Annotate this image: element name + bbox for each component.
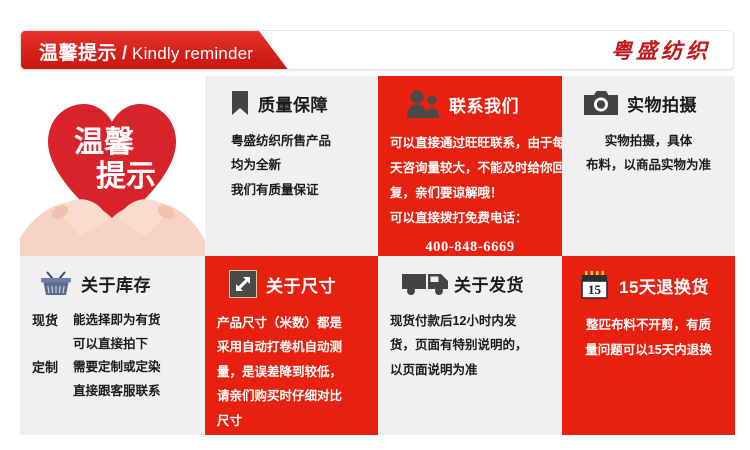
heart-text-line1: 温馨 (74, 126, 135, 159)
stock-key: 现货 (32, 309, 64, 333)
cell-title: 关于尺寸 (266, 272, 336, 297)
cell-header: 15 15天退换货 (574, 270, 723, 300)
cell-title: 联系我们 (449, 92, 519, 117)
stock-key: 定制 (32, 356, 64, 380)
body-line: 量，是误差降到较低， (217, 360, 366, 384)
cell-body: 实物拍摄，具体 布料，以商品实物为准 (574, 129, 723, 178)
calendar-day-number: 15 (588, 282, 602, 297)
cell-title: 质量保障 (258, 91, 328, 116)
body-line: 货，页面有特别说明的， (390, 333, 550, 357)
cell-header: 实物拍摄 (574, 90, 723, 116)
body-line: 天咨询量较大，不能及时给你回 (390, 156, 550, 181)
calendar-icon: 15 (580, 270, 610, 300)
body-line: 产品尺寸（米数）都是 (217, 311, 366, 335)
stock-key (32, 380, 64, 403)
body-line: 现货付款后12小时内发 (390, 309, 550, 333)
people-icon (406, 90, 440, 118)
cell-quality-assurance: 质量保障 粤盛纺织所售产品 均为全新 我们有质量保证 (205, 76, 378, 256)
cell-contact-us: 联系我们 可以直接通过旺旺联系，由于每 天咨询量较大，不能及时给你回 复，亲们要… (378, 76, 562, 256)
cell-body: 现货付款后12小时内发 货，页面有特别说明的， 以页面说明为准 (390, 309, 550, 382)
body-line: 可以直接通过旺旺联系，由于每 (390, 131, 550, 156)
cell-real-photo: 实物拍摄 实物拍摄，具体 布料，以商品实物为准 (562, 76, 735, 256)
resize-arrows-icon (229, 270, 257, 298)
bookmark-icon (231, 90, 249, 116)
truck-icon (402, 270, 450, 296)
stock-key (32, 333, 64, 356)
banner-separator: / (122, 43, 127, 64)
stock-value: 可以直接拍下 (73, 333, 148, 356)
body-line: 尺寸 (217, 409, 366, 433)
stock-row: 可以直接拍下 (32, 333, 193, 356)
heart-icon: 温馨 提示 (20, 76, 205, 256)
cell-body: 现货 能选择即为有货 可以直接拍下 定制 需要定制或定染 直接跟客服联系 (32, 309, 193, 403)
body-line: 实物拍摄，具体 (574, 129, 723, 153)
stock-row: 定制 需要定制或定染 (32, 356, 193, 380)
body-line: 均为全新 (231, 153, 366, 177)
body-line: 整匹布料不开剪，有质 (574, 313, 723, 338)
cell-about-stock: 关于库存 现货 能选择即为有货 可以直接拍下 定制 需要定制或定染 直接跟客服联… (20, 256, 205, 435)
heart-text-line2: 提示 (96, 160, 156, 193)
cell-body: 产品尺寸（米数）都是 采用自动打卷机自动测 量，是误差降到较低， 请亲们购买时仔… (217, 311, 366, 433)
basket-icon (40, 270, 72, 296)
cell-header: 联系我们 (390, 90, 550, 118)
banner-title-en: Kindly reminder (132, 44, 253, 64)
cell-header: 关于尺寸 (217, 270, 366, 298)
banner-tab-inner: 温馨提示 / Kindly reminder (21, 38, 253, 65)
contact-phone-number: 400-848-6669 (390, 233, 550, 256)
cell-header: 关于发货 (390, 270, 550, 296)
cell-about-shipping: 关于发货 现货付款后12小时内发 货，页面有特别说明的， 以页面说明为准 (378, 256, 562, 435)
stock-value: 能选择即为有货 (73, 309, 161, 333)
body-line: 我们有质量保证 (231, 178, 366, 202)
cell-return-policy: 15 15天退换货 整匹布料不开剪，有质 量问题可以15天内退换 (562, 256, 735, 435)
cell-body: 粤盛纺织所售产品 均为全新 我们有质量保证 (217, 129, 366, 202)
camera-icon (584, 90, 618, 116)
banner-title-cn: 温馨提示 (39, 38, 117, 65)
cell-warm-reminder: 温馨 提示 (20, 76, 205, 256)
feature-grid: 温馨 提示 质量保障 粤盛纺织所售产品 均为全新 我 (20, 76, 735, 435)
brand-logo: 粤盛纺织 (611, 35, 711, 65)
body-line: 请亲们购买时仔细对比 (217, 384, 366, 408)
banner-tab: 温馨提示 / Kindly reminder (21, 31, 289, 70)
body-line: 量问题可以15天内退换 (574, 338, 723, 363)
cell-header: 关于库存 (32, 270, 193, 296)
cell-title: 15天退换货 (619, 273, 709, 298)
stock-row: 现货 能选择即为有货 (32, 309, 193, 333)
cell-body: 可以直接通过旺旺联系，由于每 天咨询量较大，不能及时给你回 复，亲们要谅解哦！ … (390, 131, 550, 256)
body-line: 采用自动打卷机自动测 (217, 335, 366, 359)
stock-value: 直接跟客服联系 (73, 380, 161, 403)
body-line: 粤盛纺织所售产品 (231, 129, 366, 153)
cell-title: 实物拍摄 (627, 91, 697, 116)
body-line: 可以直接拨打免费电话： (390, 206, 550, 231)
cell-title: 关于库存 (81, 271, 151, 296)
stock-row: 直接跟客服联系 (32, 380, 193, 403)
cell-title: 关于发货 (454, 271, 524, 296)
cell-header: 质量保障 (217, 90, 366, 116)
body-line: 以页面说明为准 (390, 358, 550, 382)
heart-hands-illustration: 温馨 提示 (20, 76, 205, 256)
stock-value: 需要定制或定染 (73, 356, 161, 380)
page-header-banner: 温馨提示 / Kindly reminder 粤盛纺织 (20, 30, 734, 70)
body-line: 布料，以商品实物为准 (574, 153, 723, 177)
cell-body: 整匹布料不开剪，有质 量问题可以15天内退换 (574, 313, 723, 363)
cell-about-size: 关于尺寸 产品尺寸（米数）都是 采用自动打卷机自动测 量，是误差降到较低， 请亲… (205, 256, 378, 435)
body-line: 复，亲们要谅解哦！ (390, 181, 550, 206)
